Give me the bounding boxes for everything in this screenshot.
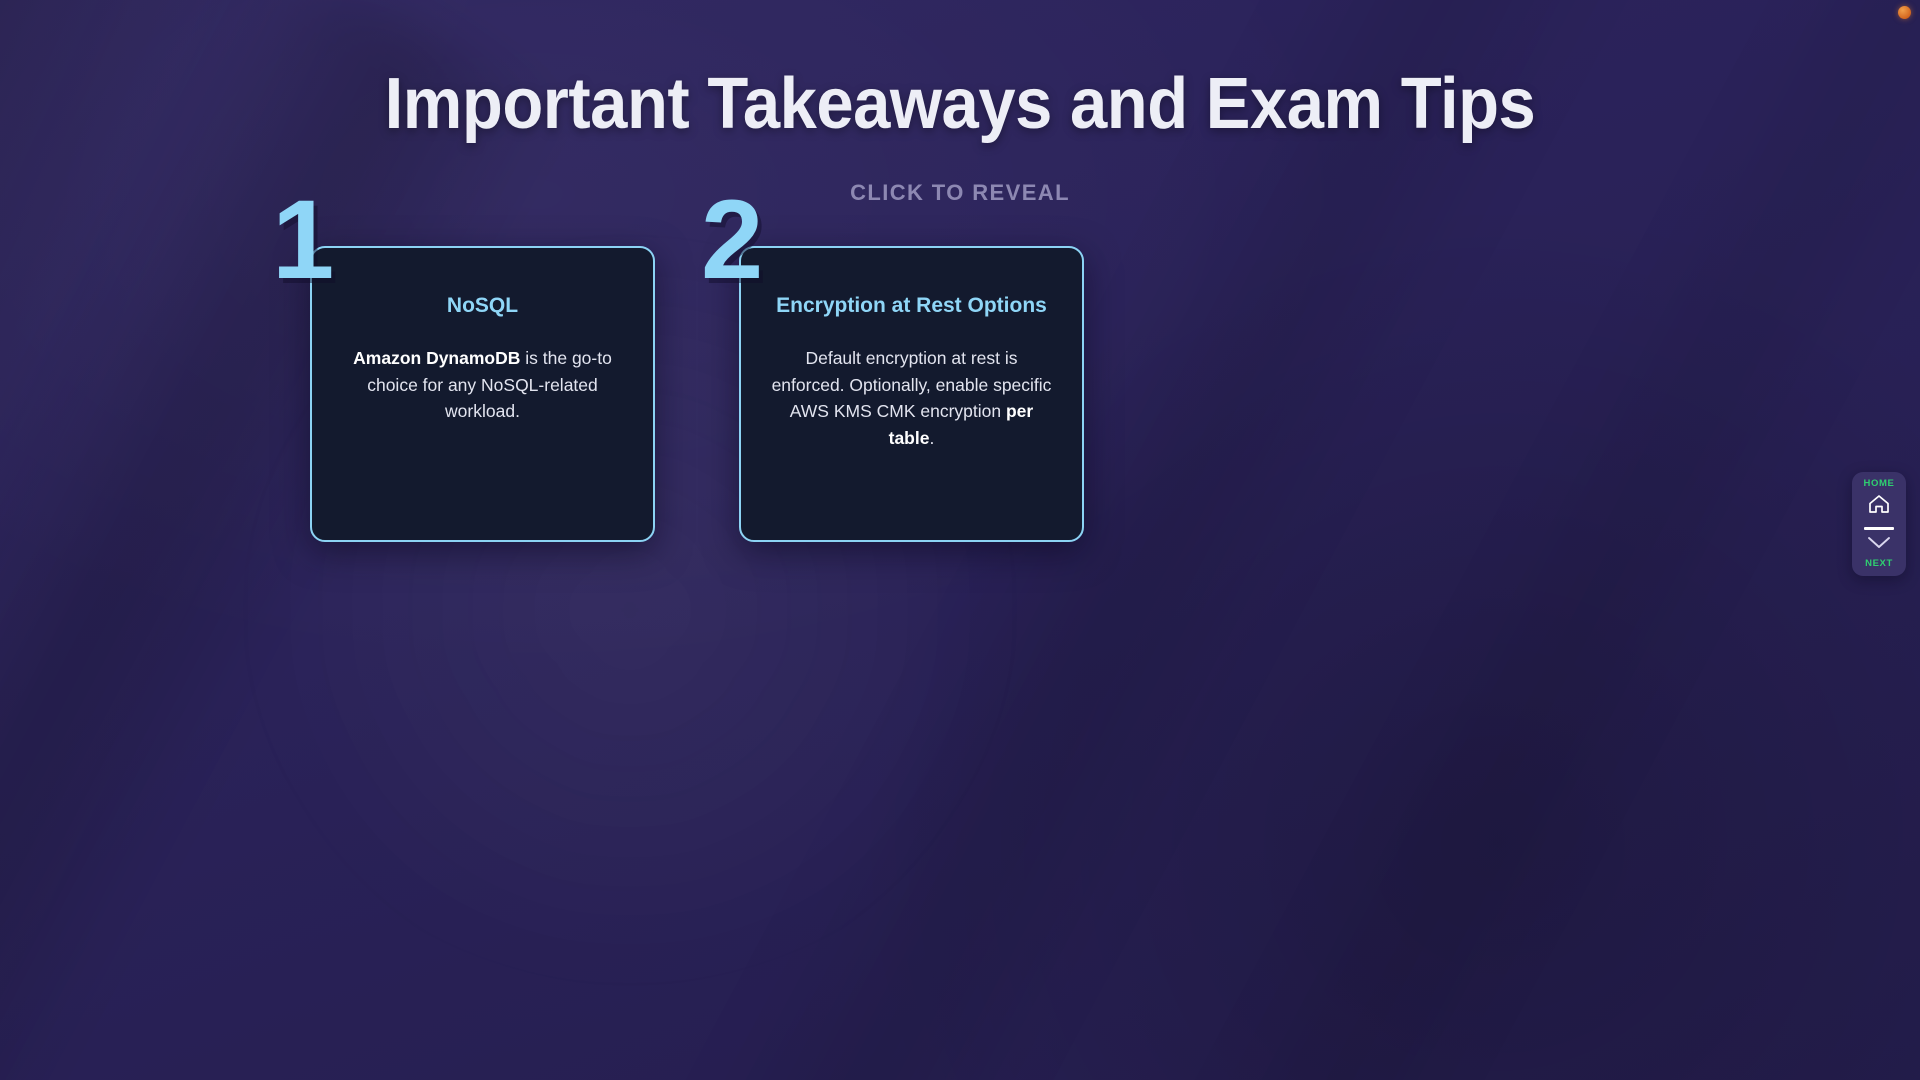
house-icon: [1867, 493, 1891, 520]
card-body: Default encryption at rest is enforced. …: [767, 345, 1056, 451]
home-button-label: HOME: [1864, 479, 1895, 489]
page-title: Important Takeaways and Exam Tips: [67, 66, 1853, 142]
card-body-text-tail: .: [929, 428, 934, 448]
card-body: Amazon DynamoDB is the go-to choice for …: [338, 345, 627, 425]
chevron-down-icon: [1866, 535, 1892, 555]
card-number-badge: 1: [272, 184, 332, 296]
next-button-label: NEXT: [1865, 559, 1893, 569]
navigation-widget: HOME NEXT: [1852, 472, 1906, 576]
takeaway-cards-container: 1 NoSQL Amazon DynamoDB is the go-to cho…: [310, 246, 1084, 542]
next-button[interactable]: NEXT: [1865, 535, 1893, 569]
takeaway-card-1-wrapper: 1 NoSQL Amazon DynamoDB is the go-to cho…: [310, 246, 655, 542]
background-streak: [1142, 0, 1920, 1080]
card-heading: Encryption at Rest Options: [767, 292, 1056, 319]
card-heading: NoSQL: [338, 292, 627, 319]
divider-bar: [1864, 527, 1894, 530]
takeaway-card-2-wrapper: 2 Encryption at Rest Options Default enc…: [739, 246, 1084, 542]
takeaway-card[interactable]: Encryption at Rest Options Default encry…: [739, 246, 1084, 542]
card-number-badge: 2: [701, 184, 761, 296]
takeaway-card[interactable]: NoSQL Amazon DynamoDB is the go-to choic…: [310, 246, 655, 542]
home-button[interactable]: HOME: [1864, 479, 1895, 520]
card-body-emphasis: Amazon DynamoDB: [353, 348, 520, 368]
recording-indicator-dot: [1898, 6, 1911, 19]
